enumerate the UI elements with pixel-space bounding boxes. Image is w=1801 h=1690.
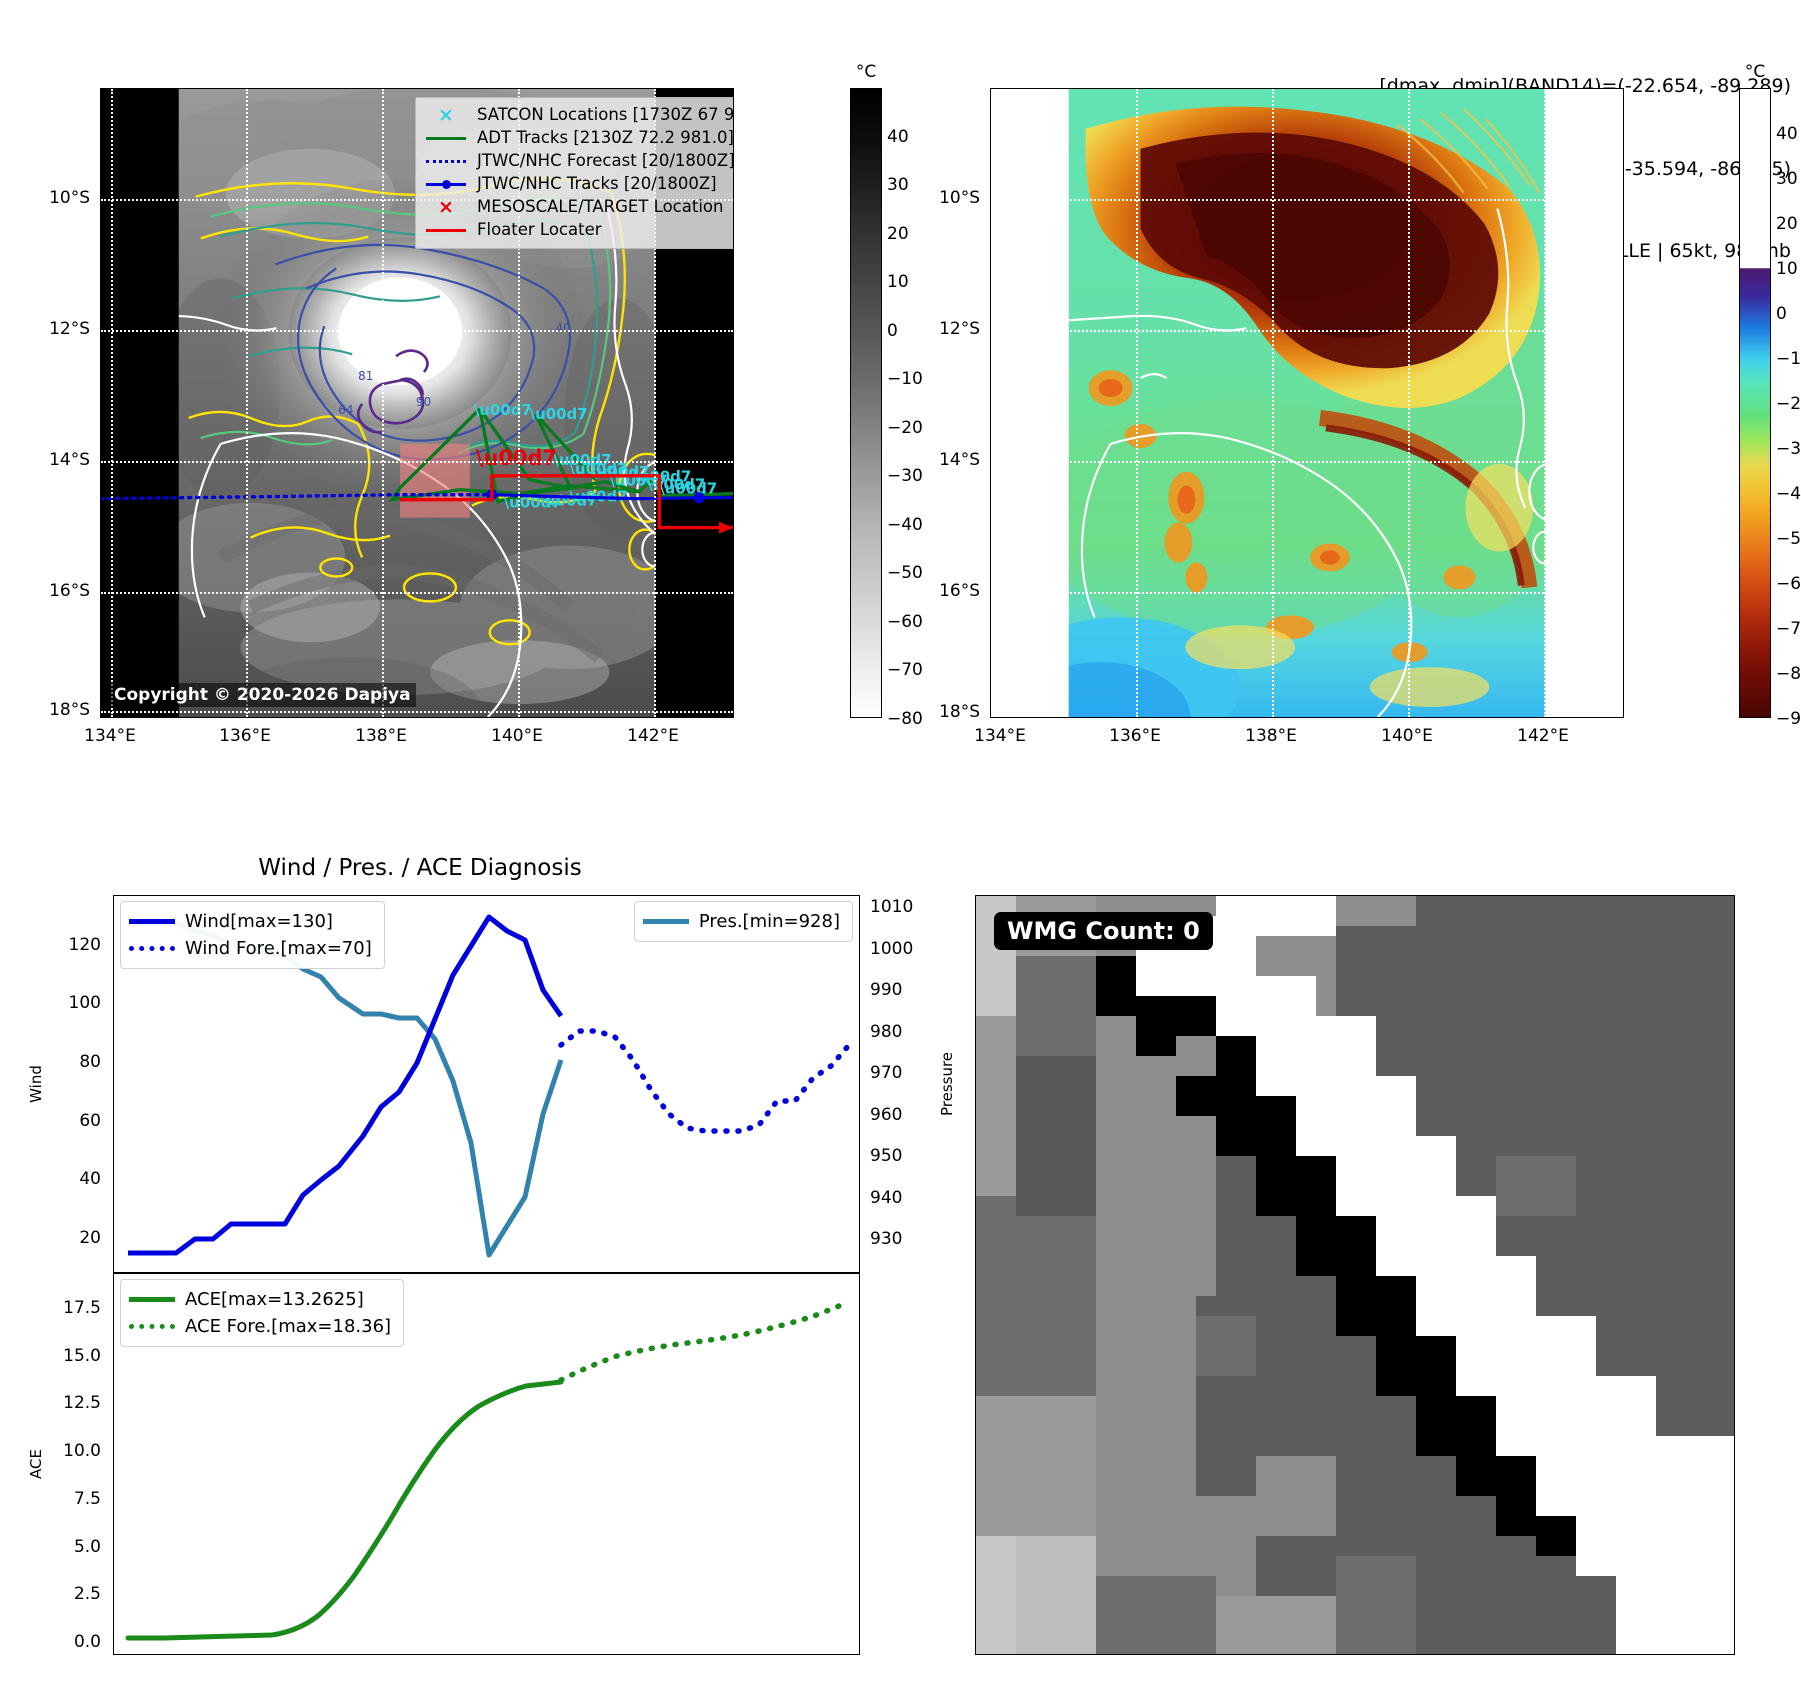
pres-tick-990: 990 <box>870 980 902 1000</box>
right-cbar-tick-m50: −50 <box>1776 529 1801 549</box>
left-cbar-tick-30: 30 <box>887 175 909 195</box>
ace-series-line <box>128 1382 561 1638</box>
pressure-line-icon <box>643 914 689 930</box>
ace-forecast-series-line <box>561 1302 849 1380</box>
wind-tick-120: 120 <box>69 935 101 955</box>
left-cbar-tick-m70: −70 <box>887 660 923 680</box>
lon-tick-140e: 140°E <box>491 726 543 746</box>
mesoscale-target-marker: \u00d7 <box>476 446 557 470</box>
ace-tick-175: 17.5 <box>63 1298 101 1318</box>
legend-label-adt: ADT Tracks [2130Z 72.2 981.0] <box>477 130 734 147</box>
right-cbar-tick-m80: −80 <box>1776 664 1801 684</box>
pres-tick-1010: 1010 <box>870 897 913 917</box>
mesoscale-x-icon: × <box>424 199 468 217</box>
panel-ace-chart: ACE[max=13.2625] ACE Fore.[max=18.36] 17… <box>113 1273 860 1655</box>
pressure-axis-title: Pressure <box>938 1052 956 1116</box>
ace-tick-75: 7.5 <box>74 1489 101 1509</box>
right-cbar-tick-m90: −90 <box>1776 709 1801 729</box>
lon-tick-136e-ir: 136°E <box>1109 726 1161 746</box>
right-cbar-tick-m40: −40 <box>1776 484 1801 504</box>
pres-tick-1000: 1000 <box>870 939 913 959</box>
legend-label-pressure: Pres.[min=928] <box>699 911 840 932</box>
dashboard-root: HIMAWARI-9 BAND14-DIAS TARGET AREA Time:… <box>0 0 1801 1690</box>
wind-pressure-axes[interactable]: Wind[max=130] Wind Fore.[max=70] Pres.[m… <box>113 895 860 1273</box>
legend-item-satcon[interactable]: × SATCON Locations [1730Z 67 975] <box>424 104 734 127</box>
ace-tick-150: 15.0 <box>63 1346 101 1366</box>
lon-tick-134e-ir: 134°E <box>974 726 1026 746</box>
left-cbar-tick-10: 10 <box>887 272 909 292</box>
legend-label-ace: ACE[max=13.2625] <box>185 1289 364 1310</box>
left-cbar-tick-m60: −60 <box>887 612 923 632</box>
right-cbar-tick-m60: −60 <box>1776 574 1801 594</box>
legend-label-satcon: SATCON Locations [1730Z 67 975] <box>477 107 734 124</box>
ace-line-icon <box>129 1292 175 1308</box>
copyright-notice: Copyright © 2020-2026 Dapiya <box>109 683 416 707</box>
legend-item-adt[interactable]: ADT Tracks [2130Z 72.2 981.0] <box>424 127 734 150</box>
ace-tick-00: 0.0 <box>74 1632 101 1652</box>
legend-item-ace[interactable]: ACE[max=13.2625] <box>129 1286 391 1313</box>
right-cbar-tick-m30: −30 <box>1776 439 1801 459</box>
pres-tick-980: 980 <box>870 1022 902 1042</box>
wind-tick-100: 100 <box>69 993 101 1013</box>
enhanced-ir-axes[interactable] <box>990 88 1624 718</box>
right-cbar-tick-m20: −20 <box>1776 394 1801 414</box>
pres-tick-960: 960 <box>870 1105 902 1125</box>
lat-tick-14s: 14°S <box>49 450 90 470</box>
left-colorbar-unit: °C <box>856 62 876 82</box>
legend-item-pressure[interactable]: Pres.[min=928] <box>643 908 840 935</box>
left-cbar-tick-m40: −40 <box>887 515 923 535</box>
lat-tick-10s: 10°S <box>49 188 90 208</box>
right-cbar-tick-10: 10 <box>1776 259 1798 279</box>
lat-tick-18s-ir: 18°S <box>939 702 980 722</box>
legend-label-wind: Wind[max=130] <box>185 911 333 932</box>
wmg-count-badge: WMG Count: 0 <box>994 912 1213 950</box>
contour-label-90: 90 <box>416 395 431 409</box>
pres-tick-970: 970 <box>870 1063 902 1083</box>
lon-tick-138e-ir: 138°E <box>1245 726 1297 746</box>
ace-tick-100: 10.0 <box>63 1441 101 1461</box>
wind-tick-60: 60 <box>79 1111 101 1131</box>
right-colorbar-unit: °C <box>1745 62 1765 82</box>
wmg-axes[interactable]: WMG Count: 0 <box>975 895 1735 1655</box>
left-cbar-tick-m10: −10 <box>887 369 923 389</box>
left-cbar-tick-m20: −20 <box>887 418 923 438</box>
pres-tick-950: 950 <box>870 1146 902 1166</box>
left-cbar-tick-m80: −80 <box>887 709 923 729</box>
legend-label-floater: Floater Locater <box>477 222 602 239</box>
lat-tick-12s: 12°S <box>49 319 90 339</box>
panel-enhanced-ir-map: 10°S 12°S 14°S 16°S 18°S 134°E 136°E 138… <box>990 88 1624 718</box>
pressure-series-line <box>128 923 561 1255</box>
legend-item-wind-forecast[interactable]: Wind Fore.[max=70] <box>129 935 372 962</box>
lon-tick-142e: 142°E <box>627 726 679 746</box>
svg-text:\u00d7: \u00d7 <box>474 401 532 419</box>
panel-wmg: WMG Count: 0 <box>975 895 1735 1655</box>
lon-tick-142e-ir: 142°E <box>1517 726 1569 746</box>
wind-tick-20: 20 <box>79 1228 101 1248</box>
ace-chart-legend: ACE[max=13.2625] ACE Fore.[max=18.36] <box>120 1279 404 1347</box>
ace-forecast-dotted-icon <box>129 1319 175 1335</box>
legend-label-jtwc-tracks: JTWC/NHC Tracks [20/1800Z] <box>477 176 717 193</box>
lon-tick-140e-ir: 140°E <box>1381 726 1433 746</box>
wind-forecast-series-line <box>561 1031 849 1131</box>
wind-axis-title: Wind <box>27 1065 45 1103</box>
legend-item-floater[interactable]: Floater Locater <box>424 219 734 242</box>
panel-wind-pressure-chart: Wind[max=130] Wind Fore.[max=70] Pres.[m… <box>113 895 860 1273</box>
legend-item-mesoscale[interactable]: × MESOSCALE/TARGET Location <box>424 196 734 219</box>
right-cbar-tick-m10: −10 <box>1776 349 1801 369</box>
lon-tick-134e: 134°E <box>84 726 136 746</box>
satcon-x-icon: × <box>424 107 468 125</box>
pres-tick-930: 930 <box>870 1229 902 1249</box>
legend-label-ace-forecast: ACE Fore.[max=18.36] <box>185 1316 391 1337</box>
ace-axes[interactable]: ACE[max=13.2625] ACE Fore.[max=18.36] <box>113 1273 860 1655</box>
ace-tick-125: 12.5 <box>63 1393 101 1413</box>
legend-item-jtwc-tracks[interactable]: JTWC/NHC Tracks [20/1800Z] <box>424 173 734 196</box>
lon-tick-136e: 136°E <box>219 726 271 746</box>
lat-tick-14s-ir: 14°S <box>939 450 980 470</box>
legend-item-jtwc-forecast[interactable]: JTWC/NHC Forecast [20/1800Z] <box>424 150 734 173</box>
right-cbar-tick-20: 20 <box>1776 214 1798 234</box>
jtwc-forecast-dotted-icon <box>424 153 468 171</box>
lat-tick-12s-ir: 12°S <box>939 319 980 339</box>
left-cbar-tick-40: 40 <box>887 127 909 147</box>
ir-map-axes[interactable]: \u00d7 \u00d7 \u00d7 \u00d7 \u00d7 \u00d… <box>100 88 734 718</box>
legend-label-mesoscale: MESOSCALE/TARGET Location <box>477 199 723 216</box>
jtwc-track-dot-icon <box>424 176 468 194</box>
ace-tick-50: 5.0 <box>74 1537 101 1557</box>
wind-chart-legend: Wind[max=130] Wind Fore.[max=70] <box>120 901 385 969</box>
right-cbar-tick-40: 40 <box>1776 124 1798 144</box>
panel-ir-grayscale-map: \u00d7 \u00d7 \u00d7 \u00d7 \u00d7 \u00d… <box>100 88 734 718</box>
svg-text:\u00d7: \u00d7 <box>659 480 717 498</box>
right-colorbar[interactable]: 40 30 20 10 0 −10 −20 −30 −40 −50 −60 −7… <box>1739 88 1771 718</box>
wind-forecast-dotted-icon <box>129 941 175 957</box>
adt-line-icon <box>424 130 468 148</box>
left-cbar-tick-0: 0 <box>887 321 898 341</box>
left-cbar-tick-20: 20 <box>887 224 909 244</box>
right-cbar-tick-30: 30 <box>1776 169 1798 189</box>
left-cbar-tick-m30: −30 <box>887 466 923 486</box>
left-colorbar[interactable]: 40 30 20 10 0 −10 −20 −30 −40 −50 −60 −7… <box>850 88 882 718</box>
legend-label-wind-forecast: Wind Fore.[max=70] <box>185 938 372 959</box>
pressure-chart-legend: Pres.[min=928] <box>634 901 853 942</box>
pres-tick-940: 940 <box>870 1188 902 1208</box>
lat-tick-10s-ir: 10°S <box>939 188 980 208</box>
legend-label-jtwc-forecast: JTWC/NHC Forecast [20/1800Z] <box>477 153 734 170</box>
wind-pres-ace-chart-title: Wind / Pres. / ACE Diagnosis <box>258 855 581 881</box>
lat-tick-16s-ir: 16°S <box>939 581 980 601</box>
wind-line-icon <box>129 914 175 930</box>
lon-tick-138e: 138°E <box>355 726 407 746</box>
wind-tick-80: 80 <box>79 1052 101 1072</box>
legend-item-ace-forecast[interactable]: ACE Fore.[max=18.36] <box>129 1313 391 1340</box>
wind-tick-40: 40 <box>79 1169 101 1189</box>
ace-axis-title: ACE <box>27 1449 45 1479</box>
contour-label-81: 81 <box>358 369 373 383</box>
lat-tick-16s: 16°S <box>49 581 90 601</box>
lat-tick-18s: 18°S <box>49 700 90 720</box>
contour-label-40: 40 <box>556 321 571 335</box>
enhanced-ir-image <box>991 89 1623 717</box>
contour-label-64: 64 <box>338 403 353 417</box>
floater-line-icon <box>424 222 468 240</box>
ace-tick-25: 2.5 <box>74 1584 101 1604</box>
wmg-grayscale-image <box>976 896 1735 1655</box>
map-legend: × SATCON Locations [1730Z 67 975] ADT Tr… <box>415 97 734 249</box>
right-cbar-tick-m70: −70 <box>1776 619 1801 639</box>
left-cbar-tick-m50: −50 <box>887 563 923 583</box>
right-cbar-tick-0: 0 <box>1776 304 1787 324</box>
legend-item-wind[interactable]: Wind[max=130] <box>129 908 372 935</box>
svg-text:\u00d7: \u00d7 <box>530 405 588 423</box>
